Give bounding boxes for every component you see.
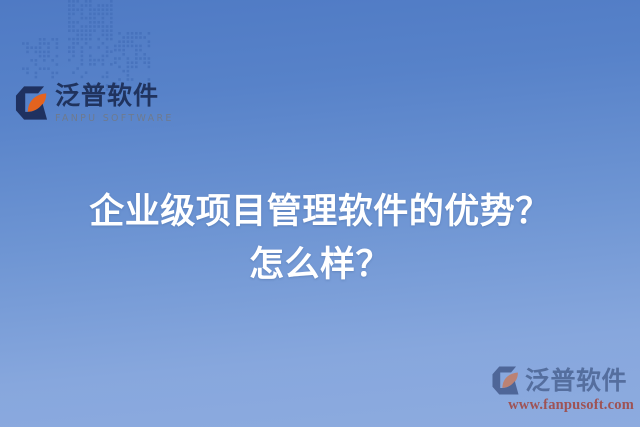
promo-banner: 泛普软件 FANPU SOFTWARE 企业级项目管理软件的优势？ 怎么样？ 泛… [0,0,640,427]
watermark-brand-name: 泛普软件 [525,367,627,395]
fanpu-hexagon-logo-icon [13,84,50,122]
fanpu-hexagon-logo-icon [489,365,522,396]
brand-name-en: FANPU SOFTWARE [55,114,174,124]
page-title: 企业级项目管理软件的优势？ 怎么样？ [0,186,640,292]
watermark: 泛普软件 www.fanpusoft.com [489,365,634,419]
watermark-url: www.fanpusoft.com [489,397,634,414]
page-title-line-1: 企业级项目管理软件的优势？ [0,186,640,239]
watermark-logo-row: 泛普软件 [489,365,634,396]
page-title-line-2: 怎么样？ [0,239,640,292]
brand-text-group: 泛普软件 FANPU SOFTWARE [55,83,174,124]
pixel-building-skyline-decoration [16,0,152,92]
brand-logo: 泛普软件 FANPU SOFTWARE [13,83,173,133]
brand-name-cn: 泛普软件 [55,83,174,109]
